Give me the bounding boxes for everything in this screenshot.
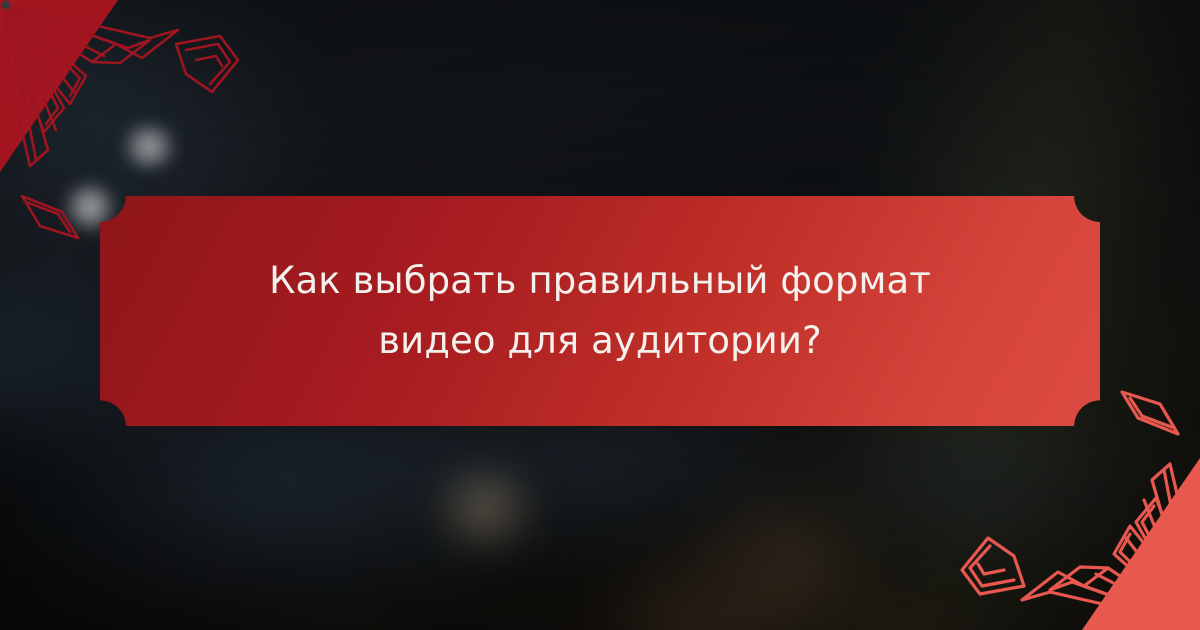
title-banner: Как выбрать правильный формат видео для … (100, 196, 1100, 426)
page-title: Как выбрать правильный формат видео для … (220, 251, 980, 371)
share-card: Как выбрать правильный формат видео для … (0, 0, 1200, 630)
